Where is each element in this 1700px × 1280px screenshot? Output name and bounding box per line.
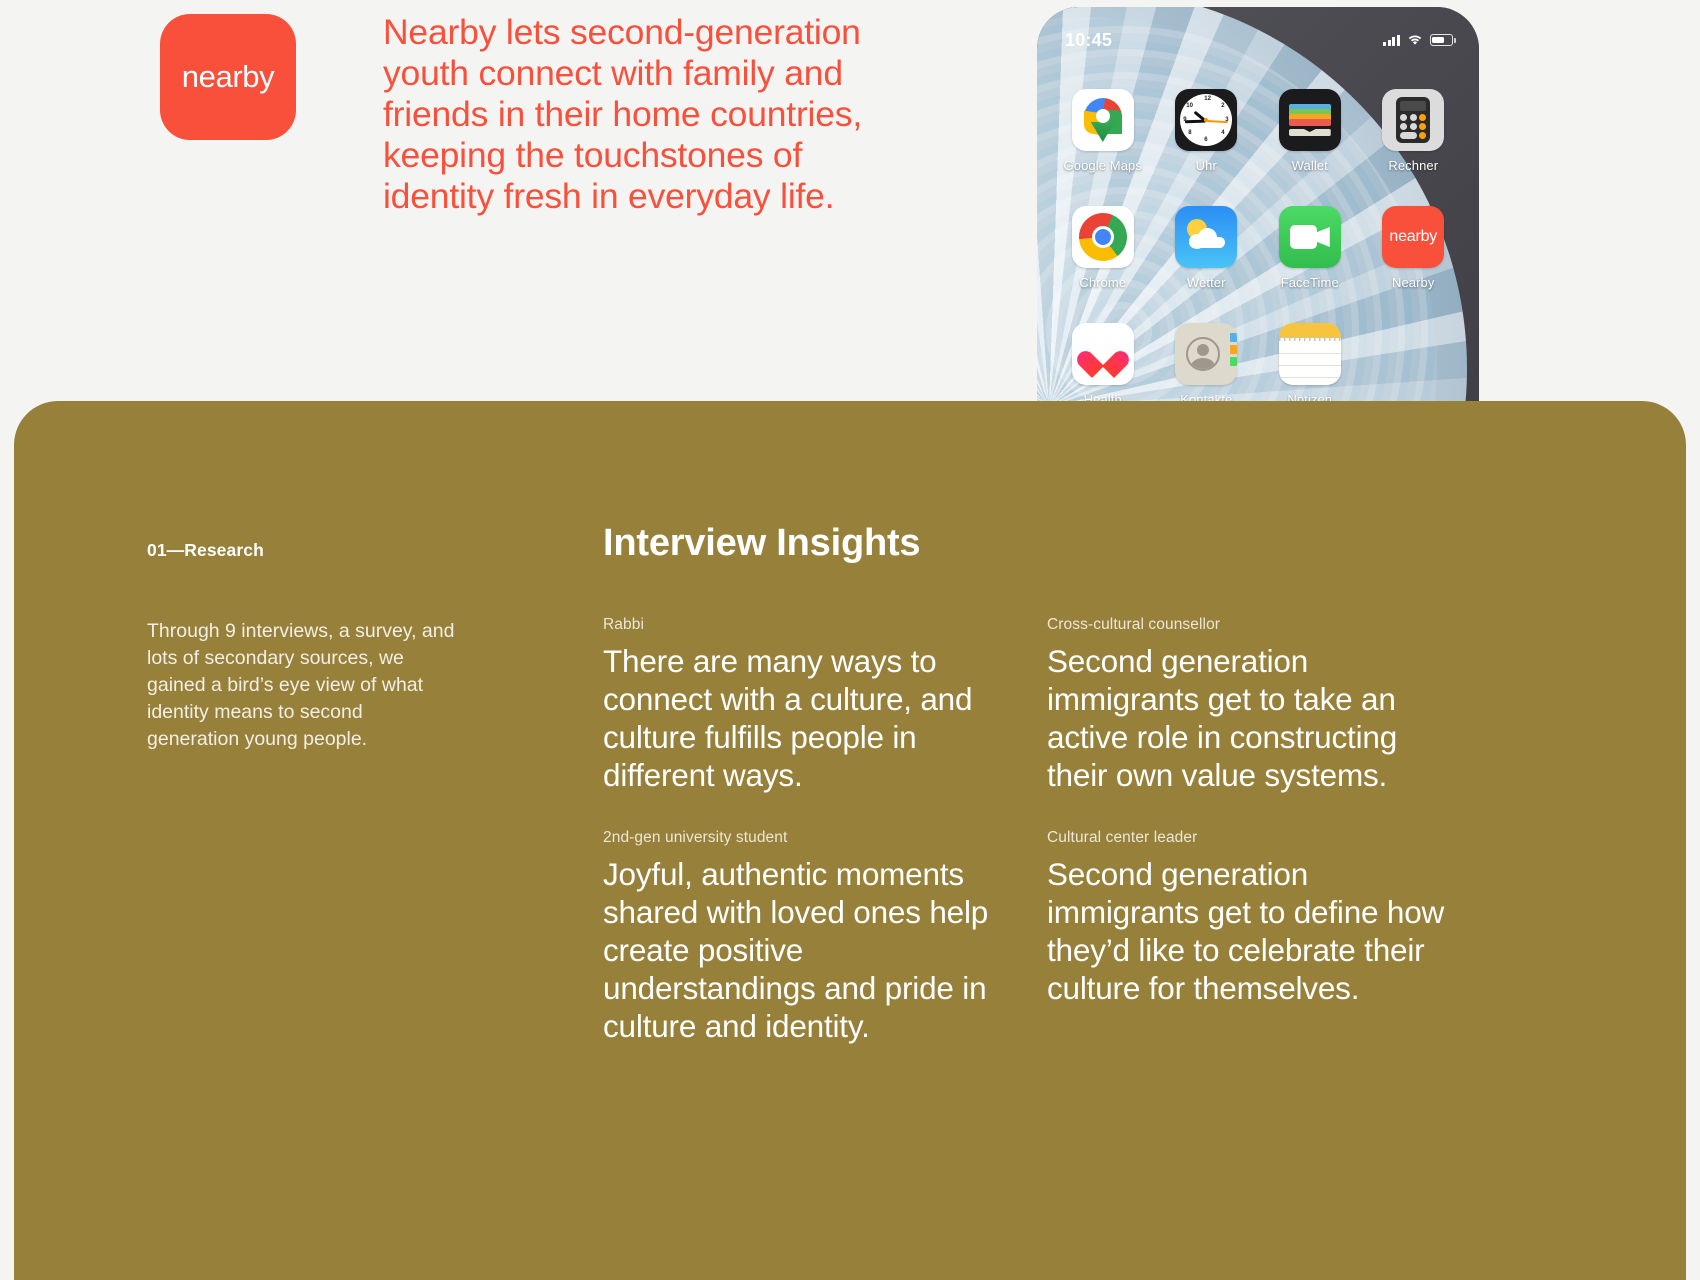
quote-role: Cross-cultural counsellor: [1047, 616, 1447, 634]
app-label: FaceTime: [1281, 275, 1339, 290]
quote-card: Cultural center leader Second generation…: [1047, 829, 1447, 1007]
app-label: Uhr: [1196, 158, 1217, 173]
nearby-logo-tile: nearby: [160, 14, 296, 140]
app-label: Chrome: [1079, 275, 1126, 290]
app-icon-wetter[interactable]: Wetter: [1155, 206, 1259, 290]
google-maps-icon: [1072, 89, 1134, 151]
chrome-icon: [1072, 206, 1134, 268]
contacts-icon: [1175, 323, 1237, 385]
nearby-tile-text: nearby: [1389, 228, 1437, 246]
app-label: Nearby: [1392, 275, 1435, 290]
phone-status-bar: 10:45: [1037, 27, 1479, 53]
quote-text: Joyful, authentic moments shared with lo…: [603, 855, 1003, 1045]
quote-text: Second generation immigrants get to take…: [1047, 642, 1447, 794]
quote-card: 2nd-gen university student Joyful, authe…: [603, 829, 1003, 1045]
app-icon-nearby[interactable]: nearby Nearby: [1362, 206, 1466, 290]
app-label: Rechner: [1388, 158, 1438, 173]
facetime-icon: [1279, 206, 1341, 268]
phone-mockup: 10:45 Google Maps 12 2 3 4: [1037, 7, 1479, 439]
notes-icon: [1279, 323, 1341, 385]
signal-bars-icon: [1383, 35, 1400, 46]
app-icon-kontakte[interactable]: Kontakte: [1155, 323, 1259, 407]
headline-text: Nearby lets second-generation youth conn…: [383, 12, 883, 217]
app-icon-facetime[interactable]: FaceTime: [1258, 206, 1362, 290]
quote-text: There are many ways to connect with a cu…: [603, 642, 1003, 794]
app-label: Wetter: [1187, 275, 1226, 290]
nearby-app-icon: nearby: [1382, 206, 1444, 268]
quote-card: Rabbi There are many ways to connect wit…: [603, 616, 1003, 794]
phone-app-grid: Google Maps 12 2 3 4 6 8 9 10 Uhr: [1037, 89, 1479, 407]
quote-role: Rabbi: [603, 616, 1003, 634]
wallet-icon: [1279, 89, 1341, 151]
section-body-text: Through 9 interviews, a survey, and lots…: [147, 618, 457, 753]
app-label: Wallet: [1292, 158, 1328, 173]
app-label: Google Maps: [1064, 158, 1142, 173]
quote-role: 2nd-gen university student: [603, 829, 1003, 847]
status-bar-time: 10:45: [1065, 30, 1112, 51]
app-icon-health[interactable]: Health: [1051, 323, 1155, 407]
section-label: 01—Research: [147, 540, 264, 561]
clock-icon: 12 2 3 4 6 8 9 10: [1175, 89, 1237, 151]
quote-role: Cultural center leader: [1047, 829, 1447, 847]
app-icon-wallet[interactable]: Wallet: [1258, 89, 1362, 173]
weather-icon: [1175, 206, 1237, 268]
calculator-icon: [1382, 89, 1444, 151]
nearby-logo-text: nearby: [182, 59, 274, 95]
app-icon-notizen[interactable]: Notizen: [1258, 323, 1362, 407]
status-bar-indicators: [1383, 34, 1453, 46]
app-icon-chrome[interactable]: Chrome: [1051, 206, 1155, 290]
wifi-icon: [1407, 34, 1423, 46]
app-icon-uhr[interactable]: 12 2 3 4 6 8 9 10 Uhr: [1155, 89, 1259, 173]
battery-icon: [1430, 34, 1453, 46]
app-icon-google-maps[interactable]: Google Maps: [1051, 89, 1155, 173]
quote-text: Second generation immigrants get to defi…: [1047, 855, 1447, 1007]
quote-card: Cross-cultural counsellor Second generat…: [1047, 616, 1447, 794]
page-title: Interview Insights: [603, 522, 920, 565]
health-heart-icon: [1072, 323, 1134, 385]
app-icon-rechner[interactable]: Rechner: [1362, 89, 1466, 173]
